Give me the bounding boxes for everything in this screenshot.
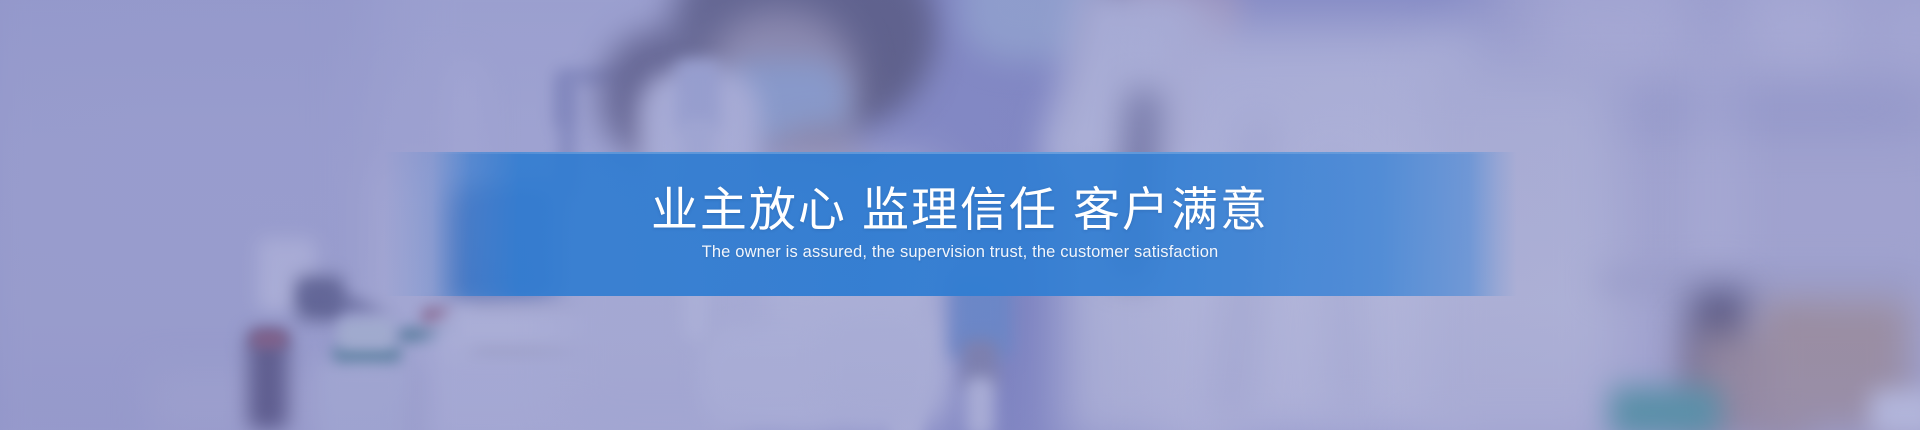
banner-headline: 业主放心 监理信任 客户满意 — [651, 185, 1269, 234]
banner-hero: 业主放心 监理信任 客户满意 The owner is assured, the… — [0, 0, 1920, 430]
banner-subheadline: The owner is assured, the supervision tr… — [702, 243, 1219, 263]
banner-text-block: 业主放心 监理信任 客户满意 The owner is assured, the… — [0, 152, 1920, 296]
